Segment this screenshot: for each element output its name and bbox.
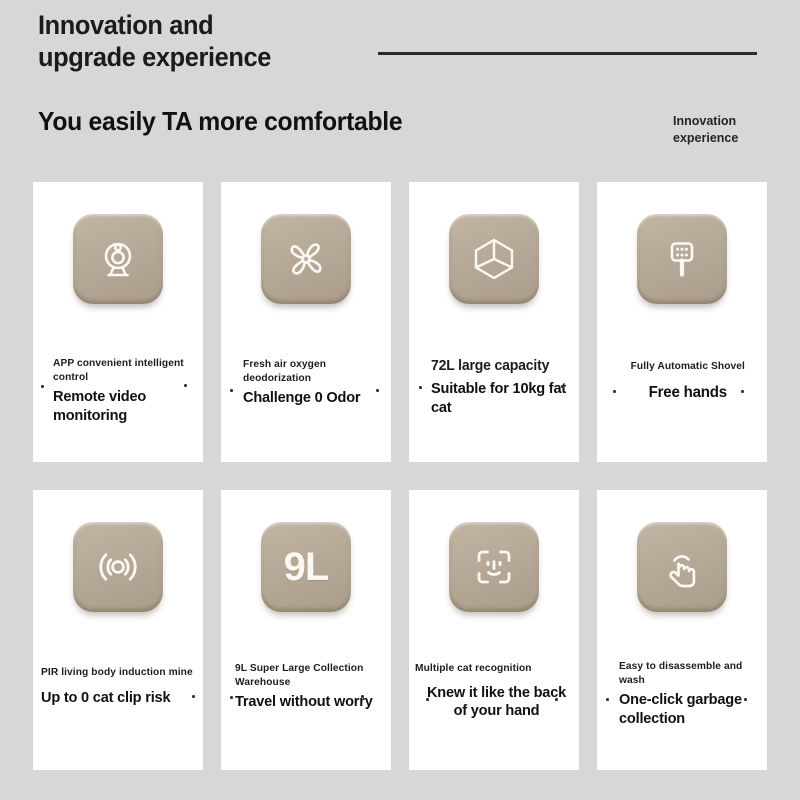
icon-tile: [637, 522, 727, 612]
header: Innovation and upgrade experience You ea…: [0, 0, 800, 170]
corner-note: Innovation experience: [673, 113, 773, 147]
icon-tile-wrap: [597, 522, 767, 612]
face-recognition-icon: [470, 543, 518, 591]
feature-card[interactable]: 72L large capacity Suitable for 10kg fat…: [409, 182, 579, 462]
card-heading: Knew it like the back of your hand: [415, 684, 570, 722]
card-subtitle: 9L Super Large Collection Warehouse: [235, 662, 382, 689]
decor-dot-right: [744, 698, 747, 701]
card-subtitle: Multiple cat recognition: [415, 662, 570, 676]
page-title: Innovation and upgrade experience: [38, 10, 286, 73]
card-subtitle: Easy to disassemble and wash: [619, 660, 759, 687]
decor-dot-left: [41, 385, 44, 388]
decor-dot-right: [184, 384, 187, 387]
card-text: Multiple cat recognition Knew it like th…: [415, 662, 575, 721]
webcam-icon: [95, 236, 141, 282]
hand-tap-icon: [658, 543, 706, 591]
card-text: Easy to disassemble and wash One-click g…: [619, 660, 763, 729]
card-subtitle: Fully Automatic Shovel: [617, 360, 759, 374]
icon-tile-wrap: [597, 214, 767, 304]
icon-tile: [73, 522, 163, 612]
card-text: Fully Automatic Shovel Free hands: [617, 360, 763, 402]
cube-capacity-icon: [469, 234, 519, 284]
card-heading: Free hands: [617, 383, 759, 402]
icon-tile-wrap: [221, 214, 391, 304]
card-heading: One-click garbage collection: [619, 691, 759, 729]
decor-dot-left: [230, 696, 233, 699]
poster-root: Innovation and upgrade experience You ea…: [0, 0, 800, 800]
corner-note-line-2: experience: [673, 130, 773, 147]
decor-dot-left: [419, 386, 422, 389]
decor-dot-left: [613, 390, 616, 393]
title-line-1: Innovation and: [38, 10, 271, 42]
card-subtitle: APP convenient intelligent control: [53, 357, 195, 384]
card-text: APP convenient intelligent control Remot…: [53, 357, 199, 426]
card-text: PIR living body induction mine Up to 0 c…: [41, 666, 201, 707]
decor-dot-right: [192, 695, 195, 698]
feature-card[interactable]: Fully Automatic Shovel Free hands: [597, 182, 767, 462]
fan-propeller-icon: [282, 235, 330, 283]
header-divider-rule: [378, 52, 757, 55]
icon-tile-wrap: 9L: [221, 522, 391, 612]
feature-card[interactable]: Multiple cat recognition Knew it like th…: [409, 490, 579, 770]
icon-tile: [449, 522, 539, 612]
decor-dot-right: [741, 390, 744, 393]
decor-dot-left: [606, 698, 609, 701]
feature-card[interactable]: PIR living body induction mine Up to 0 c…: [33, 490, 203, 770]
card-heading: Remote video monitoring: [53, 388, 195, 426]
icon-tile-wrap: [409, 214, 579, 304]
decor-dot-right: [561, 385, 564, 388]
icon-tile-wrap: [409, 522, 579, 612]
shovel-icon: [659, 236, 705, 282]
card-heading: Challenge 0 Odor: [243, 389, 383, 408]
feature-card[interactable]: 9L 9L Super Large Collection Warehouse T…: [221, 490, 391, 770]
icon-tile: [73, 214, 163, 304]
page-subtitle: You easily TA more comfortable: [38, 106, 402, 137]
nine-litre-text-icon: 9L: [284, 547, 329, 587]
card-text: 9L Super Large Collection Warehouse Trav…: [235, 662, 387, 712]
feature-card[interactable]: Easy to disassemble and wash One-click g…: [597, 490, 767, 770]
decor-dot-left: [426, 698, 429, 701]
decor-dot-right: [555, 698, 558, 701]
card-subtitle: PIR living body induction mine: [41, 666, 196, 680]
pir-sensor-wave-icon: [94, 543, 142, 591]
decor-dot-right: [376, 389, 379, 392]
card-text: Fresh air oxygen deodorization Challenge…: [243, 358, 387, 408]
card-subtitle: Fresh air oxygen deodorization: [243, 358, 383, 385]
card-subtitle: 72L large capacity: [431, 357, 571, 376]
icon-tile-wrap: [33, 522, 203, 612]
card-heading: Suitable for 10kg fat cat: [431, 380, 571, 418]
icon-tile: [637, 214, 727, 304]
feature-card[interactable]: APP convenient intelligent control Remot…: [33, 182, 203, 462]
decor-dot-right: [361, 695, 364, 698]
card-heading: Up to 0 cat clip risk: [41, 689, 196, 708]
corner-note-line-1: Innovation: [673, 113, 773, 130]
decor-dot-left: [230, 389, 233, 392]
feature-card[interactable]: Fresh air oxygen deodorization Challenge…: [221, 182, 391, 462]
icon-tile: 9L: [261, 522, 351, 612]
feature-grid: APP convenient intelligent control Remot…: [33, 182, 767, 770]
icon-tile-wrap: [33, 214, 203, 304]
icon-tile: [449, 214, 539, 304]
card-text: 72L large capacity Suitable for 10kg fat…: [431, 357, 575, 417]
icon-tile: [261, 214, 351, 304]
title-line-2: upgrade experience: [38, 42, 271, 74]
